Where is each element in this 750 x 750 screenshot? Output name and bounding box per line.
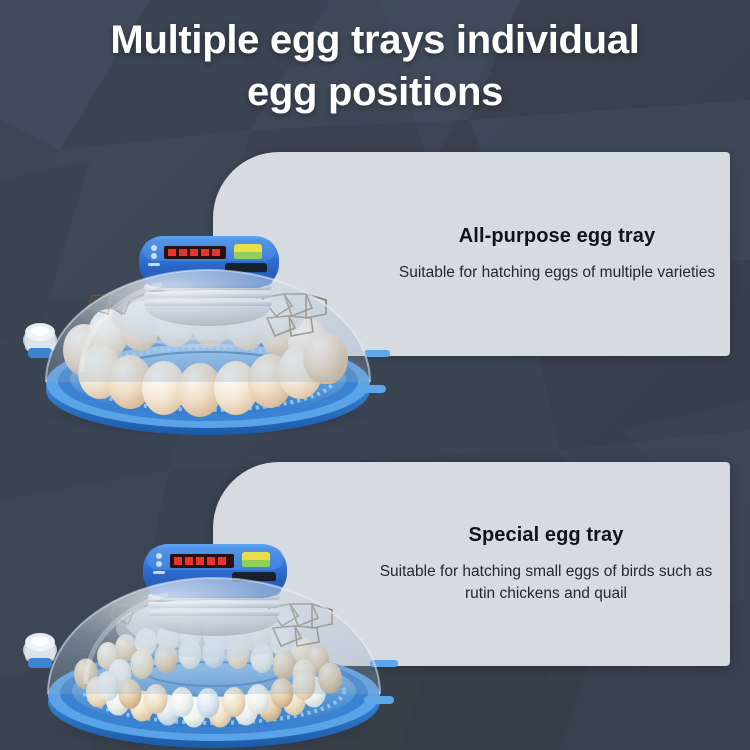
product-poster: Multiple egg trays individual egg positi…: [0, 0, 750, 750]
feature-card-special: Special egg tray Suitable for hatching s…: [213, 462, 730, 666]
feature-card-content: All-purpose egg tray Suitable for hatchi…: [392, 152, 722, 356]
feature-card-title: Special egg tray: [469, 524, 624, 547]
feature-card-content: Special egg tray Suitable for hatching s…: [366, 462, 726, 666]
feature-card-all-purpose: All-purpose egg tray Suitable for hatchi…: [213, 152, 730, 356]
feature-card-description: Suitable for hatching small eggs of bird…: [371, 561, 721, 605]
feature-card-description: Suitable for hatching eggs of multiple v…: [399, 262, 715, 284]
feature-card-title: All-purpose egg tray: [459, 225, 655, 248]
